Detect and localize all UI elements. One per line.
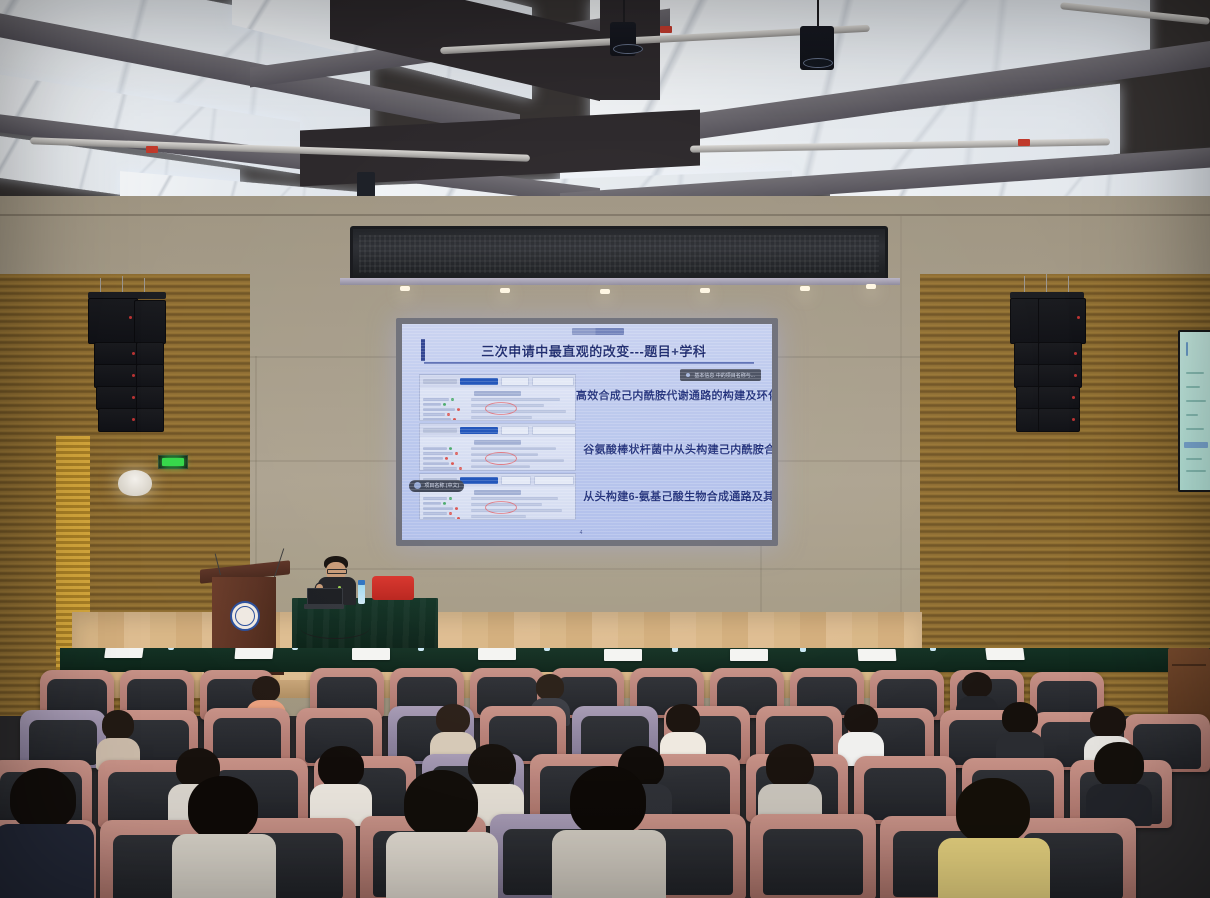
form-main-fields — [467, 447, 572, 470]
slide-badge-text: 基本信息 中的项目名称与... — [694, 372, 755, 379]
attendee — [0, 768, 88, 898]
attendee — [996, 702, 1044, 762]
laptop — [304, 588, 344, 610]
slide-line-3: 从头构建6-氨基己酸生物合成通路及其高产研究 — [583, 488, 772, 504]
ceiling-shelf — [340, 278, 900, 285]
name-card — [604, 649, 642, 661]
exit-sign-icon — [158, 455, 188, 469]
form-tab-active — [460, 378, 498, 385]
bottle-cap — [358, 580, 365, 585]
projection-screen: 三次申请中最直观的改变---题目+学科 基本信息 中的项目名称与... — [396, 318, 778, 546]
attendee — [946, 778, 1042, 898]
attendee — [178, 776, 270, 898]
annotation-circle — [485, 402, 517, 415]
form-tab — [501, 476, 531, 485]
slide-title: 三次申请中最直观的改变---题目+学科 — [431, 341, 758, 360]
cable — [300, 616, 370, 639]
attendee — [96, 710, 140, 766]
wall-sconce — [118, 470, 152, 496]
name-card — [234, 648, 273, 659]
form-tab — [532, 377, 574, 386]
form-tab — [532, 426, 576, 435]
slide-title-row: 三次申请中最直观的改变---题目+学科 — [421, 339, 758, 361]
form-section-title — [474, 440, 521, 445]
ceiling-sensor-icon — [357, 172, 375, 198]
form-main-fields — [467, 497, 572, 520]
podium-emblem — [230, 601, 260, 631]
downlight — [700, 288, 710, 293]
downlight — [500, 288, 510, 293]
slide-line-1: 高效合成己内酰胺代谢通路的构建及环化肪定与进化研究 — [576, 387, 772, 403]
attendee — [312, 746, 370, 822]
attendee — [1088, 742, 1150, 822]
name-card — [104, 648, 144, 658]
form-section-title — [474, 490, 521, 495]
pendant-speaker-2 — [610, 0, 636, 56]
water-bottle — [930, 648, 936, 651]
water-bottle — [544, 648, 550, 651]
slide-header-tag — [572, 328, 624, 335]
name-card — [985, 648, 1024, 660]
slide-tooltip-badge: 项目名称 (中文) — [409, 480, 464, 492]
form-side-list — [423, 497, 468, 520]
glasses-icon — [327, 569, 347, 574]
form-side-list — [423, 398, 468, 421]
downlight — [400, 286, 410, 291]
side-display-screen — [1180, 332, 1210, 490]
speaker-stack-right — [1010, 292, 1092, 452]
name-card — [858, 649, 897, 661]
form-tab-active — [460, 477, 498, 484]
form-section-title — [474, 391, 521, 396]
name-card — [730, 649, 768, 661]
form-label — [423, 379, 457, 384]
pendant-speaker — [800, 0, 834, 70]
form-tab — [501, 377, 529, 386]
tooltip-text: 项目名称 (中文) — [424, 482, 459, 489]
downlight — [866, 284, 876, 289]
downlight — [600, 289, 610, 294]
form-tab-active — [460, 427, 498, 434]
form-tabs-2 — [420, 424, 575, 437]
audience-area — [0, 648, 1210, 898]
badge-dot-icon — [686, 373, 690, 377]
name-card — [478, 648, 516, 660]
form-tabs-1 — [420, 375, 575, 388]
acoustic-led-bar — [350, 226, 888, 282]
name-card — [352, 648, 390, 660]
form-main-fields — [467, 398, 572, 421]
water-bottle — [800, 648, 806, 652]
title-underline — [424, 362, 753, 364]
title-accent-bar — [421, 339, 425, 361]
speaker-stack-left — [88, 292, 170, 452]
water-bottle — [672, 648, 678, 652]
attendee — [760, 744, 820, 822]
attendee — [394, 770, 490, 898]
side-display — [1178, 330, 1210, 492]
seat[interactable] — [750, 814, 876, 898]
form-tab — [534, 476, 574, 485]
slide-badge: 基本信息 中的项目名称与... — [680, 369, 761, 381]
form-label — [423, 428, 457, 433]
slide-page-number: 4 — [580, 530, 583, 536]
form-side-list — [423, 447, 468, 470]
slide-line-2: 谷氨酸棒状杆菌中从头构建己内酰胺合成通路 — [583, 441, 772, 457]
slide-surface: 三次申请中最直观的改变---题目+学科 基本信息 中的项目名称与... — [402, 324, 772, 540]
form-screenshot-1 — [419, 374, 576, 421]
red-bag — [372, 576, 414, 600]
form-screenshot-2 — [419, 423, 576, 470]
water-bottle — [358, 584, 365, 604]
form-tab — [501, 426, 529, 435]
tooltip-icon — [414, 482, 421, 489]
auditorium-photo: 三次申请中最直观的改变---题目+学科 基本信息 中的项目名称与... — [0, 0, 1210, 898]
downlight — [800, 286, 810, 291]
attendee — [560, 766, 658, 898]
water-bottle — [418, 648, 424, 651]
